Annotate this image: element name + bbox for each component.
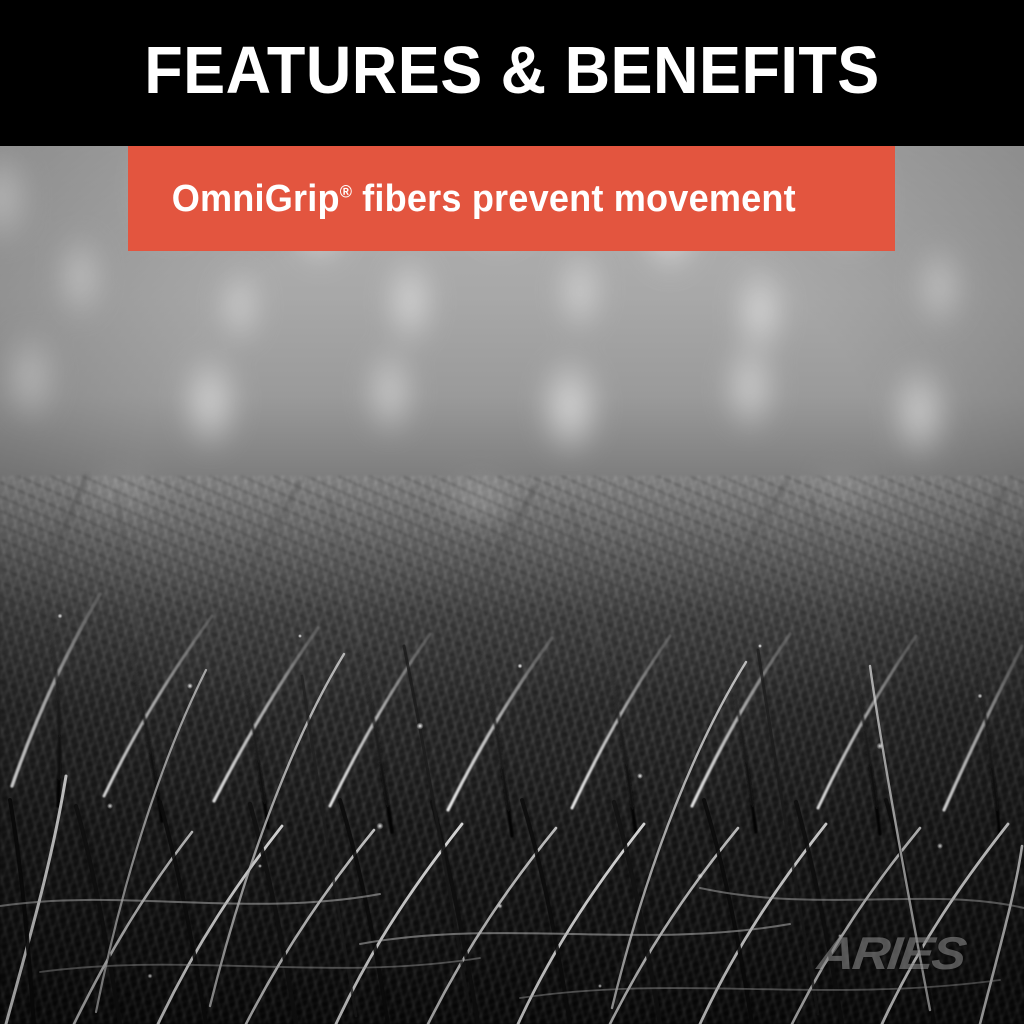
callout-brand-name: OmniGrip [172, 178, 340, 220]
registered-trademark-icon: ® [340, 181, 352, 201]
fiber-strands-illustration [0, 146, 1024, 1024]
feature-callout-text: OmniGrip® fibers prevent movement [128, 180, 796, 218]
page-title: FEATURES & BENEFITS [31, 0, 994, 146]
callout-description: fibers prevent movement [352, 178, 796, 220]
product-feature-card: ARIES OmniGrip® fibers prevent movement … [0, 0, 1024, 1024]
fiber-macro-photo [0, 146, 1024, 1024]
feature-callout-banner: OmniGrip® fibers prevent movement [128, 146, 895, 251]
header-bar: FEATURES & BENEFITS [0, 0, 1024, 146]
